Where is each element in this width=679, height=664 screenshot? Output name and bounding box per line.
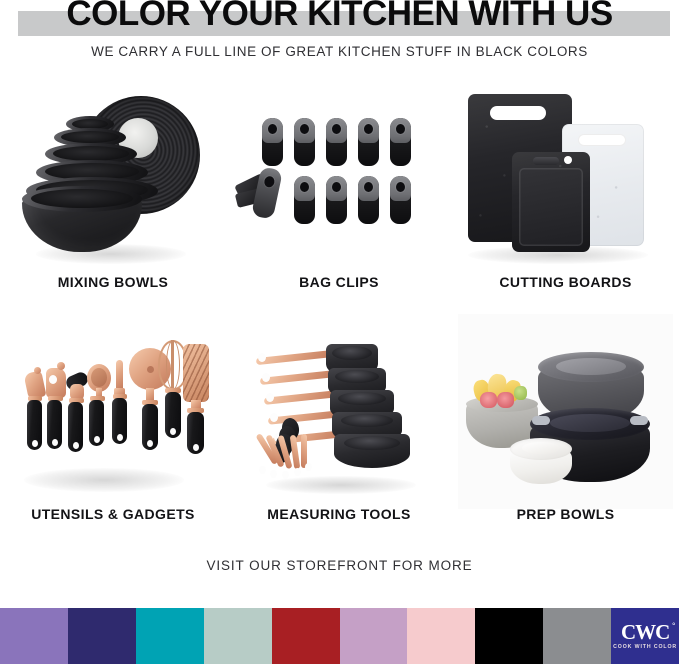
product-label: MIXING BOWLS	[0, 274, 226, 290]
swatch-navy	[68, 608, 136, 664]
swatch-black	[475, 608, 543, 664]
brand-tagline: COOK WITH COLOR	[613, 644, 677, 650]
product-cell-measuring-tools[interactable]: MEASURING TOOLS	[226, 310, 452, 542]
product-label: MEASURING TOOLS	[226, 506, 452, 522]
color-swatch-strip: CWC ° COOK WITH COLOR	[0, 608, 679, 664]
swatch-sage	[204, 608, 272, 664]
swatch-red	[272, 608, 340, 664]
measuring-cups-spoons-icon	[226, 318, 452, 503]
product-cell-bag-clips[interactable]: BAG CLIPS	[226, 78, 452, 310]
storefront-note: VISIT OUR STOREFRONT FOR MORE	[0, 558, 679, 573]
kitchen-utensils-icon	[0, 318, 226, 503]
swatch-purple	[0, 608, 68, 664]
swatch-teal	[136, 608, 204, 664]
product-label: UTENSILS & GADGETS	[0, 506, 226, 522]
swatch-blush-pink	[407, 608, 475, 664]
bag-clips-icon	[226, 86, 452, 271]
product-cell-prep-bowls[interactable]: PREP BOWLS	[452, 310, 679, 542]
page-subtitle: WE CARRY A FULL LINE OF GREAT KITCHEN ST…	[0, 44, 679, 59]
swatch-mauve	[340, 608, 408, 664]
cutting-boards-icon	[452, 86, 679, 271]
prep-bowls-with-lids-icon	[452, 318, 679, 503]
brand-degree-symbol: °	[672, 622, 675, 630]
product-cell-utensils-gadgets[interactable]: UTENSILS & GADGETS	[0, 310, 226, 542]
product-cell-mixing-bowls[interactable]: MIXING BOWLS	[0, 78, 226, 310]
brand-logo-panel[interactable]: CWC ° COOK WITH COLOR	[611, 608, 679, 664]
product-grid: MIXING BOWLS	[0, 78, 679, 543]
page-title: COLOR YOUR KITCHEN WITH US	[0, 0, 679, 34]
product-label: PREP BOWLS	[452, 506, 679, 522]
header: COLOR YOUR KITCHEN WITH US WE CARRY A FU…	[0, 0, 679, 70]
brand-wordmark: CWC °	[621, 622, 669, 642]
swatch-gray	[543, 608, 611, 664]
brand-wordmark-text: CWC	[621, 620, 669, 644]
nested-mixing-bowls-icon	[0, 86, 226, 271]
product-label: CUTTING BOARDS	[452, 274, 679, 290]
product-cell-cutting-boards[interactable]: CUTTING BOARDS	[452, 78, 679, 310]
product-infographic: COLOR YOUR KITCHEN WITH US WE CARRY A FU…	[0, 0, 679, 664]
product-label: BAG CLIPS	[226, 274, 452, 290]
